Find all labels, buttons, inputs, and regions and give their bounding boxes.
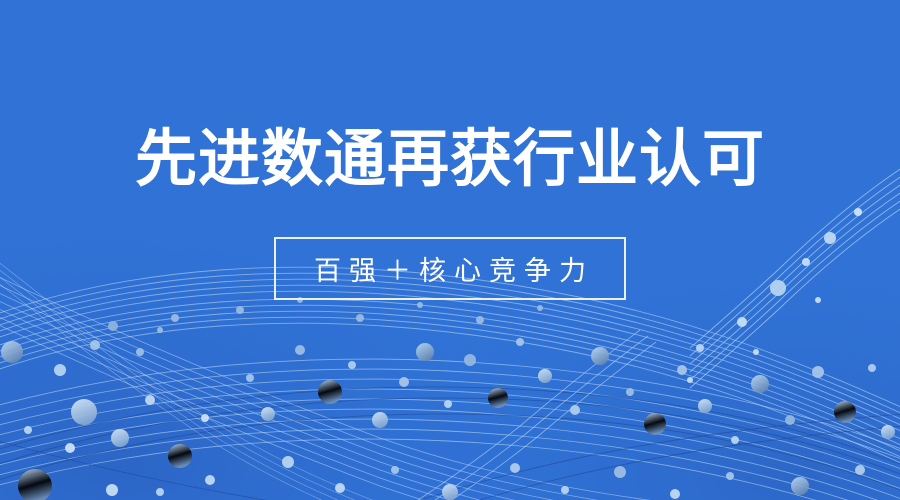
subtitle-frame: 百强＋核心竞争力 <box>274 237 626 300</box>
subtitle-text: 百强＋核心竞争力 <box>306 249 594 288</box>
page-title: 先进数通再获行业认可 <box>135 128 765 193</box>
promo-banner: 先进数通再获行业认可 百强＋核心竞争力 <box>0 0 900 500</box>
banner-content: 先进数通再获行业认可 百强＋核心竞争力 <box>0 0 900 500</box>
